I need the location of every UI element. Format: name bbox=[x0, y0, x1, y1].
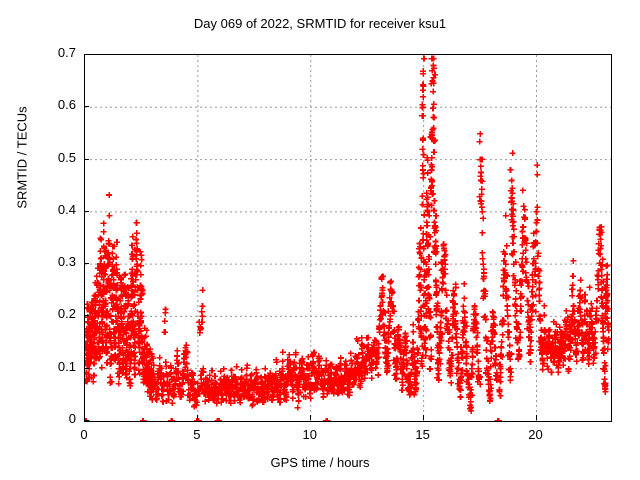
x-tick-mark bbox=[84, 415, 85, 420]
y-tick-label: 0.1 bbox=[30, 359, 76, 374]
x-tick-mark bbox=[423, 415, 424, 420]
x-tick-label: 5 bbox=[177, 427, 217, 442]
x-tick-mark bbox=[536, 415, 537, 420]
y-tick-mark bbox=[84, 315, 89, 316]
y-tick-label: 0.3 bbox=[30, 254, 76, 269]
y-tick-mark bbox=[84, 159, 89, 160]
y-tick-mark bbox=[84, 263, 89, 264]
chart-title: Day 069 of 2022, SRMTID for receiver ksu… bbox=[0, 16, 640, 31]
x-axis-label: GPS time / hours bbox=[0, 455, 640, 470]
x-tick-mark bbox=[197, 415, 198, 420]
plot-area bbox=[84, 54, 612, 422]
y-tick-mark bbox=[84, 368, 89, 369]
y-tick-mark bbox=[84, 54, 89, 55]
scatter-series-srmtid bbox=[85, 55, 611, 421]
y-tick-label: 0.7 bbox=[30, 45, 76, 60]
y-tick-label: 0.6 bbox=[30, 97, 76, 112]
y-tick-label: 0.4 bbox=[30, 202, 76, 217]
y-tick-mark bbox=[84, 211, 89, 212]
x-tick-mark bbox=[310, 415, 311, 420]
y-tick-label: 0 bbox=[30, 411, 76, 426]
x-tick-label: 15 bbox=[403, 427, 443, 442]
chart-container: Day 069 of 2022, SRMTID for receiver ksu… bbox=[0, 0, 640, 480]
y-tick-label: 0.5 bbox=[30, 150, 76, 165]
y-tick-mark bbox=[84, 420, 89, 421]
y-axis-label: SRMTID / TECUs bbox=[15, 58, 30, 258]
x-tick-label: 10 bbox=[290, 427, 330, 442]
x-tick-label: 20 bbox=[516, 427, 556, 442]
y-tick-mark bbox=[84, 106, 89, 107]
x-tick-label: 0 bbox=[64, 427, 104, 442]
y-tick-label: 0.2 bbox=[30, 306, 76, 321]
